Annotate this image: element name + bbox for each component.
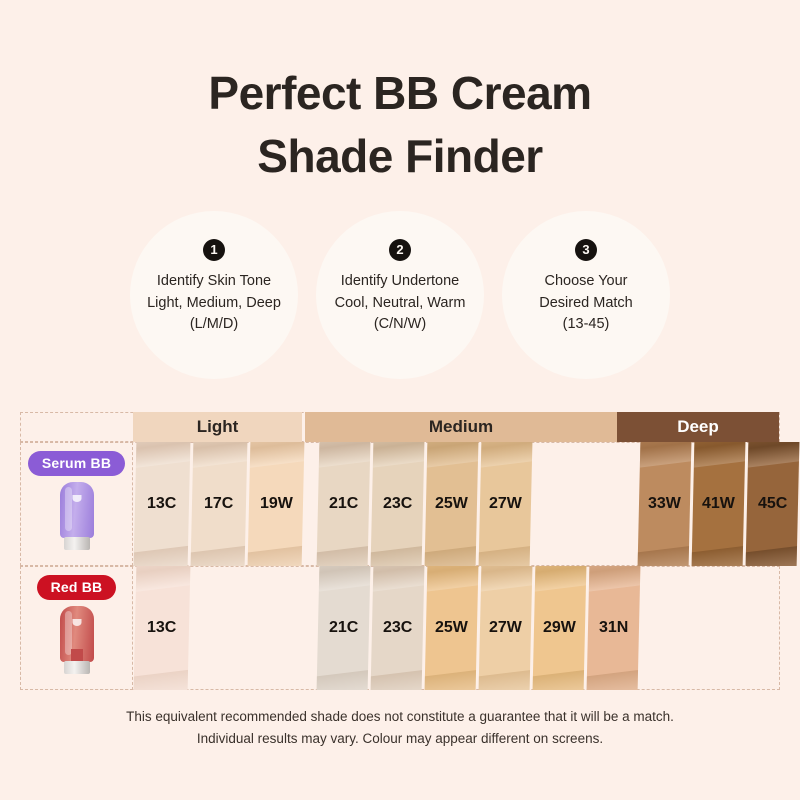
- steps-row: 1 Identify Skin Tone Light, Medium, Deep…: [0, 211, 800, 379]
- shade-swatch-41W[interactable]: 41W: [692, 442, 746, 566]
- swatch-smear-top: [317, 442, 371, 469]
- shade-code-label: 23C: [383, 619, 412, 637]
- swatch-smear-bottom: [746, 544, 800, 566]
- tube-neck: [71, 649, 83, 661]
- swatch-smear-bottom: [317, 544, 371, 566]
- swatch-smear-bottom: [479, 544, 533, 566]
- swatch-smear-bottom: [134, 544, 191, 566]
- product-cell: Red BB: [20, 566, 133, 690]
- shade-code-label: 31N: [599, 619, 628, 637]
- shade-swatch-23C[interactable]: 23C: [371, 566, 425, 690]
- swatch-smear-top: [425, 566, 479, 593]
- shade-swatch-29W[interactable]: 29W: [533, 566, 587, 690]
- product-rows: Serum BB13C17C19W21C23C25W27W33W41W45CRe…: [20, 442, 780, 690]
- swatch-smear-top: [479, 442, 533, 469]
- tone-header-row: LightMediumDeep: [20, 412, 780, 442]
- shade-code-label: 45C: [758, 495, 787, 513]
- step-3-text: Choose Your Desired Match (13-45): [533, 271, 638, 336]
- shade-code-label: 13C: [147, 619, 176, 637]
- shade-chart: LightMediumDeep Serum BB13C17C19W21C23C2…: [20, 412, 780, 690]
- disclaimer-line-1: This equivalent recommended shade does n…: [0, 706, 800, 728]
- shade-code-label: 19W: [260, 495, 293, 513]
- tube-logo-mark: [72, 495, 81, 502]
- swatch-smear-top: [533, 566, 587, 593]
- product-row-red-bb: Red BB13C21C23C25W27W29W31N: [20, 566, 780, 690]
- shade-swatch-23C[interactable]: 23C: [371, 442, 425, 566]
- tone-header-label: Medium: [429, 417, 493, 437]
- shade-swatch-13C[interactable]: 13C: [134, 566, 191, 690]
- swatch-smear-top: [479, 566, 533, 593]
- shade-swatch-17C[interactable]: 17C: [191, 442, 248, 566]
- product-tube-icon: [60, 482, 94, 550]
- shade-swatch-25W[interactable]: 25W: [425, 566, 479, 690]
- swatch-smear-bottom: [425, 668, 479, 690]
- swatch-smear-top: [425, 442, 479, 469]
- swatch-smear-bottom: [134, 668, 191, 690]
- step-3-number: 3: [575, 239, 597, 261]
- step-2-text: Identify Undertone Cool, Neutral, Warm (…: [329, 271, 472, 336]
- shade-swatch-31N[interactable]: 31N: [587, 566, 641, 690]
- swatch-smear-top: [371, 566, 425, 593]
- swatch-smear-top: [317, 566, 371, 593]
- tone-header-deep: Deep: [617, 412, 779, 442]
- shade-swatch-27W[interactable]: 27W: [479, 442, 533, 566]
- shade-code-label: 21C: [329, 619, 358, 637]
- shade-code-label: 17C: [204, 495, 233, 513]
- shade-code-label: 21C: [329, 495, 358, 513]
- tube-body: [60, 482, 94, 538]
- step-1: 1 Identify Skin Tone Light, Medium, Deep…: [130, 211, 298, 379]
- step-1-number: 1: [203, 239, 225, 261]
- swatch-smear-bottom: [317, 668, 371, 690]
- step-2: 2 Identify Undertone Cool, Neutral, Warm…: [316, 211, 484, 379]
- title-line-2: Shade Finder: [0, 125, 800, 188]
- swatch-smear-bottom: [692, 544, 746, 566]
- tone-header-label: Light: [197, 417, 239, 437]
- shade-code-label: 13C: [147, 495, 176, 513]
- shade-swatch-19W[interactable]: 19W: [248, 442, 305, 566]
- swatch-smear-bottom: [191, 544, 248, 566]
- swatch-smear-top: [134, 566, 191, 593]
- shade-swatch-13C[interactable]: 13C: [134, 442, 191, 566]
- swatch-smear-top: [191, 442, 248, 469]
- tone-header-light: Light: [133, 412, 302, 442]
- shade-code-label: 25W: [435, 619, 468, 637]
- swatch-smear-bottom: [371, 668, 425, 690]
- disclaimer-line-2: Individual results may vary. Colour may …: [0, 728, 800, 750]
- tube-cap: [64, 537, 90, 550]
- product-pill[interactable]: Serum BB: [28, 451, 125, 476]
- shade-code-label: 41W: [702, 495, 735, 513]
- product-pill[interactable]: Red BB: [37, 575, 117, 600]
- swatch-smear-top: [371, 442, 425, 469]
- product-row-serum-bb: Serum BB13C17C19W21C23C25W27W33W41W45C: [20, 442, 780, 566]
- swatch-smear-top: [692, 442, 746, 469]
- tone-header-medium: Medium: [305, 412, 617, 442]
- step-2-number: 2: [389, 239, 411, 261]
- shade-swatch-45C[interactable]: 45C: [746, 442, 800, 566]
- tone-header-label: Deep: [677, 417, 719, 437]
- shade-swatch-33W[interactable]: 33W: [638, 442, 692, 566]
- swatch-smear-bottom: [371, 544, 425, 566]
- swatch-smear-bottom: [587, 668, 641, 690]
- product-cell: Serum BB: [20, 442, 133, 566]
- swatch-smear-top: [248, 442, 305, 469]
- swatch-smear-bottom: [638, 544, 692, 566]
- shade-code-label: 27W: [489, 619, 522, 637]
- tube-cap: [64, 661, 90, 674]
- step-3: 3 Choose Your Desired Match (13-45): [502, 211, 670, 379]
- disclaimer: This equivalent recommended shade does n…: [0, 706, 800, 751]
- swatch-smear-bottom: [533, 668, 587, 690]
- shade-swatch-27W[interactable]: 27W: [479, 566, 533, 690]
- shade-code-label: 27W: [489, 495, 522, 513]
- swatch-smear-top: [746, 442, 800, 469]
- shade-swatch-21C[interactable]: 21C: [317, 566, 371, 690]
- page-title: Perfect BB Cream Shade Finder: [0, 0, 800, 189]
- shade-swatch-25W[interactable]: 25W: [425, 442, 479, 566]
- swatch-smear-bottom: [479, 668, 533, 690]
- swatch-smear-bottom: [248, 544, 305, 566]
- shade-code-label: 23C: [383, 495, 412, 513]
- swatch-smear-top: [134, 442, 191, 469]
- product-tube-icon: [60, 606, 94, 674]
- swatch-smear-top: [587, 566, 641, 593]
- shade-swatch-21C[interactable]: 21C: [317, 442, 371, 566]
- step-1-text: Identify Skin Tone Light, Medium, Deep (…: [141, 271, 287, 336]
- swatch-smear-top: [638, 442, 692, 469]
- tube-gloss: [65, 487, 72, 531]
- swatch-smear-bottom: [425, 544, 479, 566]
- shade-code-label: 25W: [435, 495, 468, 513]
- shade-code-label: 33W: [648, 495, 681, 513]
- title-line-1: Perfect BB Cream: [0, 62, 800, 125]
- shade-code-label: 29W: [543, 619, 576, 637]
- tube-logo-mark: [72, 619, 81, 626]
